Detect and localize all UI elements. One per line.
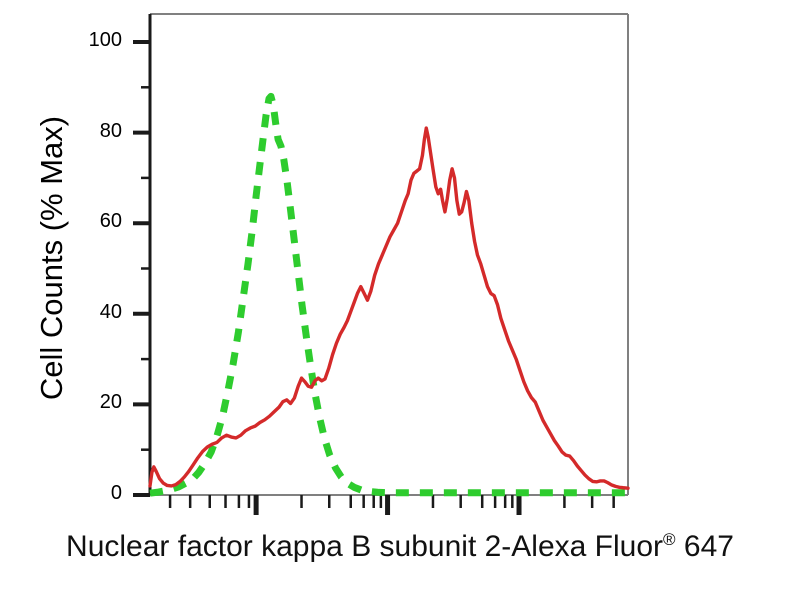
registered-trademark-icon: ® <box>663 530 676 549</box>
y-tick-label: 0 <box>78 482 122 505</box>
y-axis-ticks <box>133 42 150 495</box>
y-tick-label: 80 <box>78 120 122 143</box>
y-tick-label: 60 <box>78 210 122 233</box>
flow-cytometry-figure: 020406080100 Cell Counts (% Max) Nuclear… <box>0 0 800 600</box>
curve-stained-sample <box>150 128 628 488</box>
curve-isotype-control <box>150 96 628 493</box>
y-axis-title: Cell Counts (% Max) <box>34 98 70 418</box>
y-tick-label: 100 <box>78 29 122 52</box>
figure-caption: Nuclear factor kappa B subunit 2-Alexa F… <box>0 530 800 564</box>
plot-frame <box>150 14 628 495</box>
caption-main: Nuclear factor kappa B subunit 2-Alexa F… <box>66 530 663 563</box>
caption-tail: 647 <box>676 530 734 563</box>
y-tick-label: 20 <box>78 391 122 414</box>
y-tick-label: 40 <box>78 301 122 324</box>
x-axis-ticks <box>170 495 614 515</box>
